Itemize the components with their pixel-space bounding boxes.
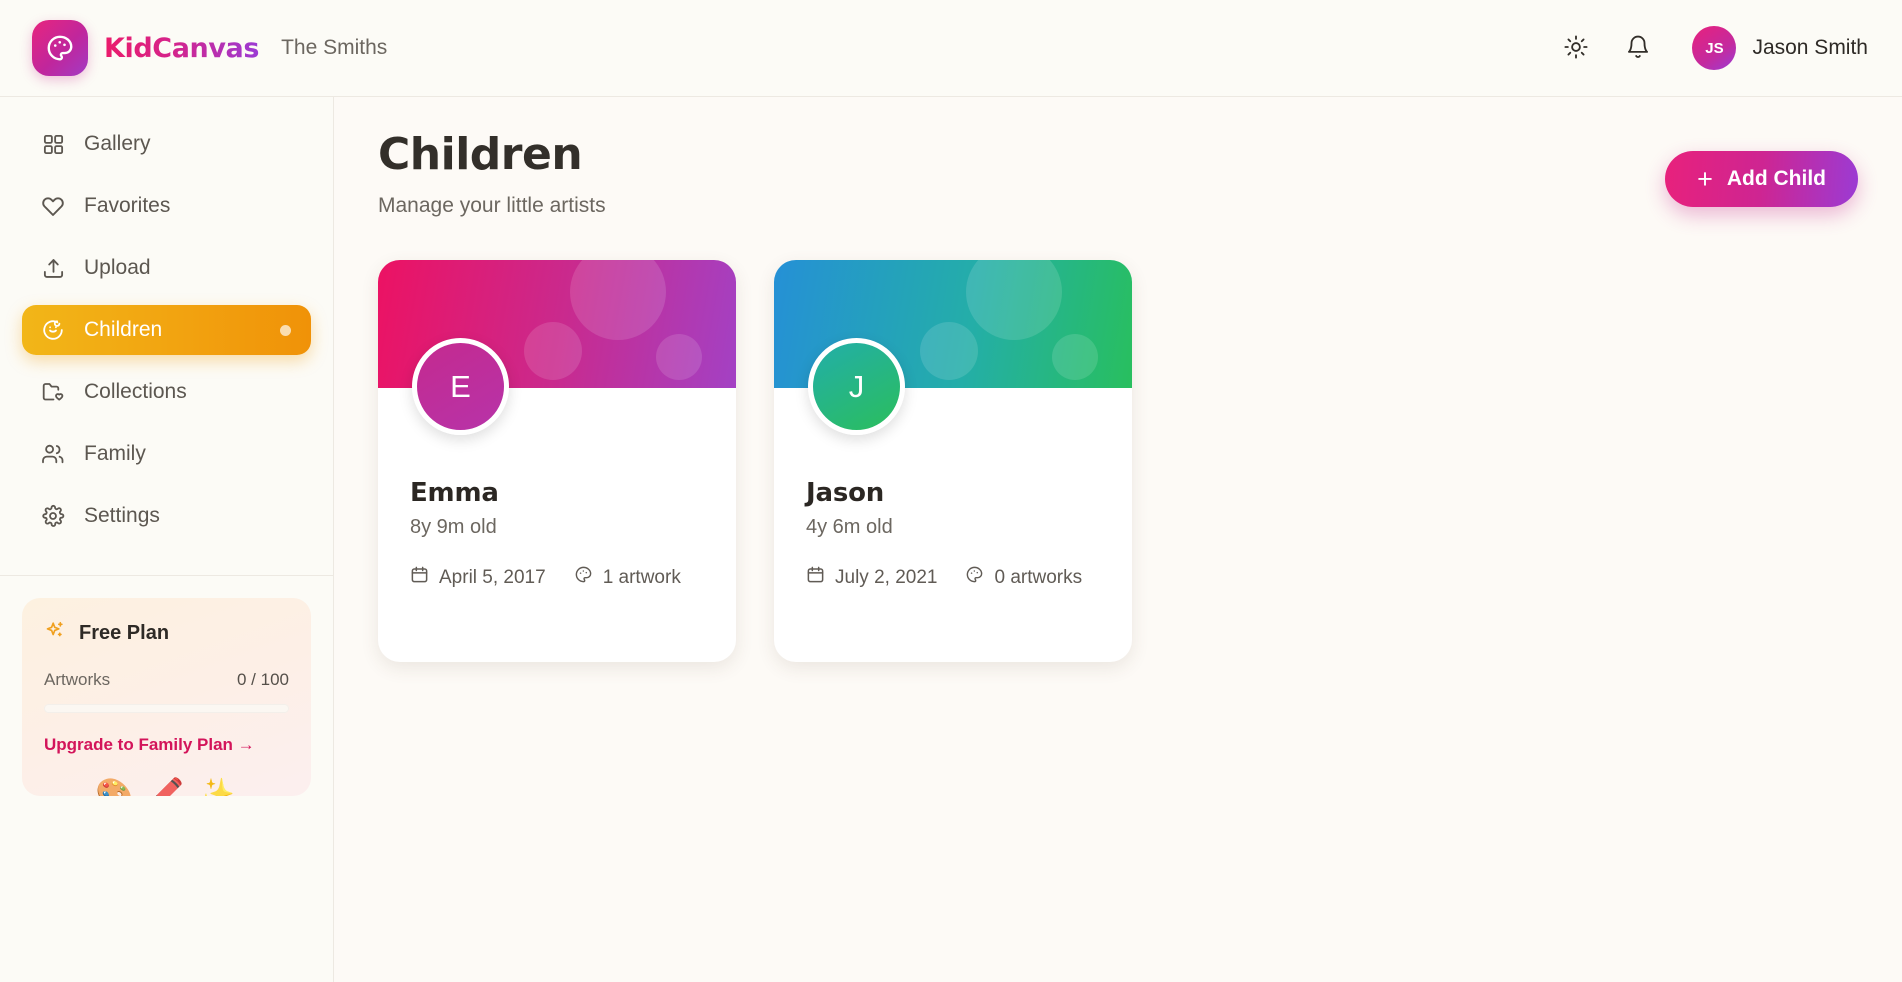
bubble-decoration <box>1052 334 1098 380</box>
child-artwork-text: 0 artworks <box>994 567 1082 589</box>
brand-name: KidCanvas <box>104 33 259 64</box>
add-child-button[interactable]: + Add Child <box>1665 151 1858 207</box>
sidebar-item-settings[interactable]: Settings <box>22 491 311 541</box>
sidebar-item-label: Settings <box>84 504 160 528</box>
active-indicator-dot <box>280 325 291 336</box>
family-name: The Smiths <box>281 36 387 60</box>
page-title: Children <box>378 129 606 180</box>
child-name: Jason <box>806 478 1100 508</box>
child-avatar: J <box>808 338 905 435</box>
plan-decoration-emojis: 🎨 🖍️ ✨ <box>22 777 311 796</box>
plan-usage-row: Artworks 0 / 100 <box>44 670 289 690</box>
sidebar-item-upload[interactable]: Upload <box>22 243 311 293</box>
plan-title: Free Plan <box>79 622 169 645</box>
child-birthday: April 5, 2017 <box>410 565 546 590</box>
palette-icon <box>45 33 75 63</box>
child-birthday: July 2, 2021 <box>806 565 937 590</box>
palette-icon <box>965 565 984 590</box>
child-name: Emma <box>410 478 704 508</box>
child-age: 8y 9m old <box>410 516 704 539</box>
grid-icon <box>40 133 66 156</box>
plan-header: Free Plan <box>44 620 289 646</box>
sun-icon <box>1563 34 1589 63</box>
sidebar-item-family[interactable]: Family <box>22 429 311 479</box>
page-heading-group: Children Manage your little artists <box>378 129 606 218</box>
bell-icon <box>1625 34 1651 63</box>
bubble-decoration <box>524 322 582 380</box>
plan-progress-bar <box>44 704 289 713</box>
plan-usage-value: 0 / 100 <box>237 670 289 690</box>
child-meta-row: April 5, 2017 1 artwork <box>410 565 704 590</box>
plan-card: Free Plan Artworks 0 / 100 Upgrade to Fa… <box>22 598 311 796</box>
upgrade-link[interactable]: Upgrade to Family Plan → <box>44 735 289 755</box>
bubble-decoration <box>966 260 1062 340</box>
heart-icon <box>40 194 66 218</box>
sidebar-item-collections[interactable]: Collections <box>22 367 311 417</box>
theme-toggle-button[interactable] <box>1552 24 1600 72</box>
user-name: Jason Smith <box>1752 36 1868 60</box>
plan-usage-label: Artworks <box>44 670 110 690</box>
child-artwork-count: 0 artworks <box>965 565 1082 590</box>
sidebar-item-favorites[interactable]: Favorites <box>22 181 311 231</box>
child-meta-row: July 2, 2021 0 artworks <box>806 565 1100 590</box>
brand[interactable]: KidCanvas The Smiths <box>32 20 387 76</box>
sidebar-nav: Gallery Favorites Upload <box>0 97 333 553</box>
page-header: Children Manage your little artists + Ad… <box>378 129 1858 218</box>
child-card[interactable]: E Emma 8y 9m old April 5, 2017 <box>378 260 736 662</box>
sidebar-item-label: Upload <box>84 256 151 280</box>
child-avatar: E <box>412 338 509 435</box>
calendar-icon <box>410 565 429 590</box>
palette-icon <box>574 565 593 590</box>
child-card[interactable]: J Jason 4y 6m old July 2, 2021 <box>774 260 1132 662</box>
baby-face-icon <box>40 318 66 342</box>
bubble-decoration <box>920 322 978 380</box>
page-subtitle: Manage your little artists <box>378 194 606 218</box>
gear-icon <box>40 504 66 528</box>
users-icon <box>40 442 66 466</box>
avatar: JS <box>1692 26 1736 70</box>
bubble-decoration <box>656 334 702 380</box>
add-child-label: Add Child <box>1727 167 1826 191</box>
child-age: 4y 6m old <box>806 516 1100 539</box>
app-logo <box>32 20 88 76</box>
sidebar-item-label: Favorites <box>84 194 170 218</box>
notifications-button[interactable] <box>1614 24 1662 72</box>
user-menu[interactable]: JS Jason Smith <box>1692 26 1868 70</box>
sidebar: Gallery Favorites Upload <box>0 97 334 982</box>
children-card-grid: E Emma 8y 9m old April 5, 2017 <box>378 260 1858 662</box>
calendar-icon <box>806 565 825 590</box>
bubble-decoration <box>570 260 666 340</box>
top-bar-actions: JS Jason Smith <box>1552 24 1868 72</box>
child-artwork-text: 1 artwork <box>603 567 681 589</box>
child-artwork-count: 1 artwork <box>574 565 681 590</box>
plan-card-wrapper: Free Plan Artworks 0 / 100 Upgrade to Fa… <box>0 576 333 818</box>
sidebar-item-label: Children <box>84 318 162 342</box>
child-birthday-text: April 5, 2017 <box>439 567 546 589</box>
plus-icon: + <box>1697 166 1713 193</box>
sidebar-item-label: Collections <box>84 380 187 404</box>
sidebar-item-gallery[interactable]: Gallery <box>22 119 311 169</box>
main-content: Children Manage your little artists + Ad… <box>334 97 1902 982</box>
sparkles-icon <box>44 620 66 646</box>
child-birthday-text: July 2, 2021 <box>835 567 937 589</box>
sidebar-item-label: Gallery <box>84 132 151 156</box>
top-bar: KidCanvas The Smiths JS Jason Smith <box>0 0 1902 97</box>
sidebar-item-label: Family <box>84 442 146 466</box>
folder-heart-icon <box>40 380 66 404</box>
upload-icon <box>40 257 66 280</box>
sidebar-item-children[interactable]: Children <box>22 305 311 355</box>
